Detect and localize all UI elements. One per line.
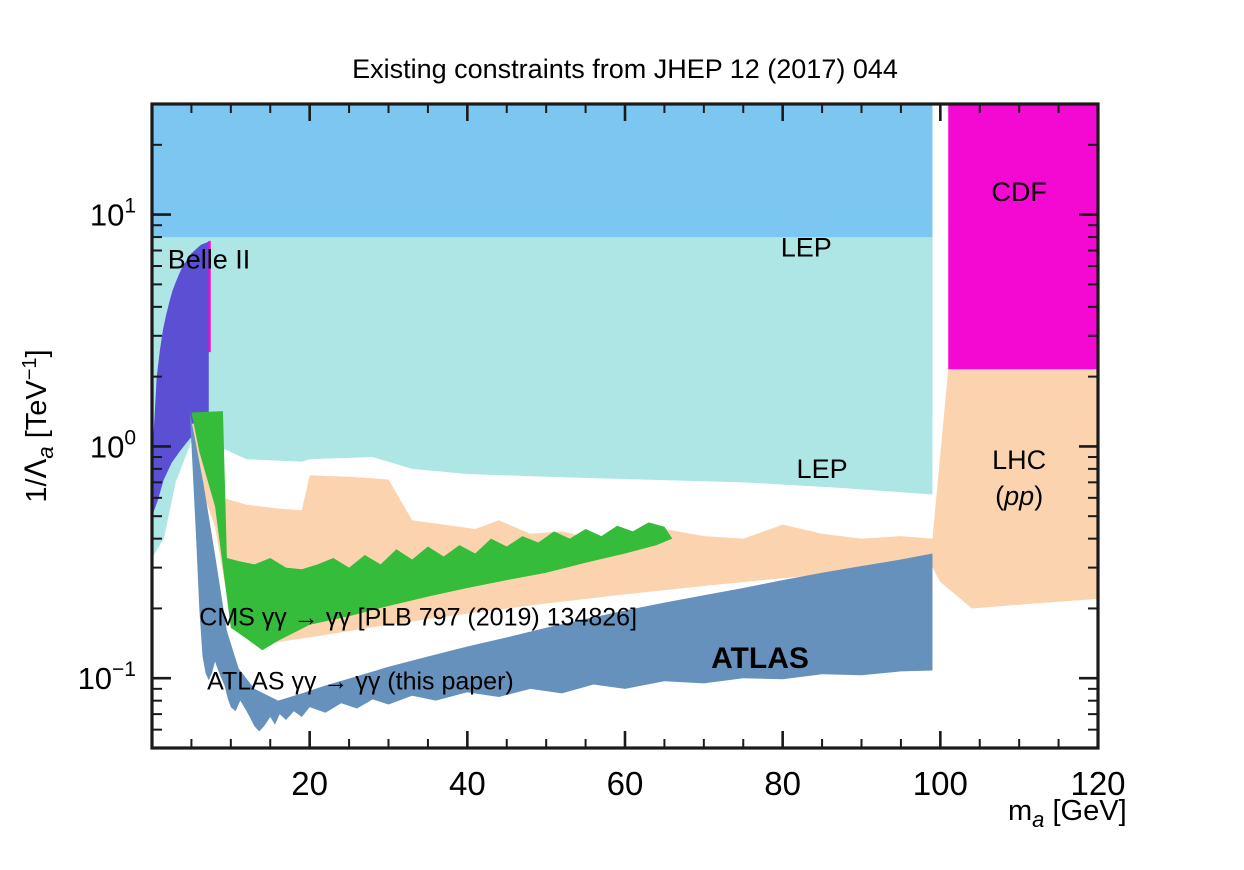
label-atlas-limit: ATLAS γγ → γγ (this paper) bbox=[207, 667, 514, 695]
chart-root: Existing constraints from JHEP 12 (2017)… bbox=[0, 0, 1244, 870]
label-lhc-pp: (pp) bbox=[995, 481, 1043, 511]
label-lhc: LHC bbox=[992, 445, 1046, 475]
x-tick-label: 80 bbox=[764, 765, 801, 802]
x-tick-label: 100 bbox=[913, 765, 968, 802]
chart-title: Existing constraints from JHEP 12 (2017)… bbox=[352, 54, 898, 84]
label-lep-lower: LEP bbox=[797, 454, 848, 484]
label-cdf: CDF bbox=[991, 177, 1047, 207]
exclusion-limit-plot: Existing constraints from JHEP 12 (2017)… bbox=[0, 0, 1244, 870]
label-belle-ii: Belle II bbox=[168, 245, 251, 275]
x-tick-label: 20 bbox=[291, 765, 328, 802]
region-cdf bbox=[948, 104, 1098, 369]
svg-text:ma [GeV]: ma [GeV] bbox=[1008, 795, 1127, 832]
x-axis-title: ma [GeV] bbox=[1008, 795, 1127, 832]
label-cms: CMS γγ → γγ [PLB 797 (2019) 134826] bbox=[199, 603, 637, 631]
x-tick-label: 40 bbox=[449, 765, 486, 802]
label-lep-upper: LEP bbox=[781, 233, 832, 263]
atlas-experiment-label: ATLAS bbox=[711, 642, 809, 675]
x-tick-label: 60 bbox=[607, 765, 644, 802]
